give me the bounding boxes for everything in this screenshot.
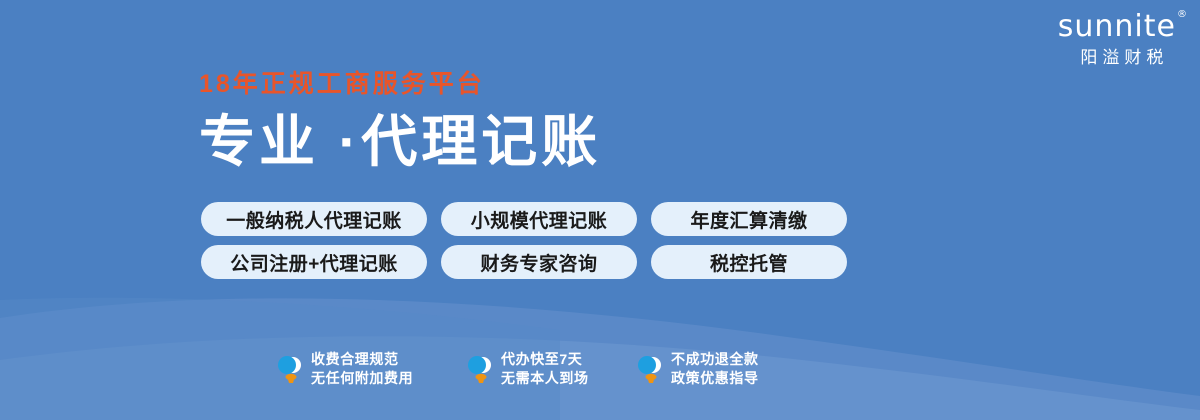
promo-banner: sunnite ® 阳溢财税 18年正规工商服务平台 专业 ·代理记账 一般纳税…	[0, 0, 1200, 420]
feature-item-refund: 不成功退全款 政策优惠指导	[636, 352, 816, 385]
brand-logo: sunnite ® 阳溢财税	[1058, 12, 1186, 66]
service-pill-row: 一般纳税人代理记账 小规模代理记账 年度汇算清缴	[201, 202, 847, 236]
service-pill-tax-control-hosting[interactable]: 税控托管	[651, 245, 847, 279]
page-title: 专业 ·代理记账	[199, 114, 601, 170]
service-pill-annual-settlement[interactable]: 年度汇算清缴	[651, 202, 847, 236]
dual-circle-icon	[636, 354, 662, 384]
feature-line-1: 代办快至7天	[501, 352, 589, 367]
logo-chinese-name: 阳溢财税	[1058, 49, 1186, 66]
dual-circle-icon	[276, 354, 302, 384]
feature-text: 收费合理规范 无任何附加费用	[311, 352, 413, 385]
feature-strip: 收费合理规范 无任何附加费用 代办快至7天 无需本人到场	[276, 352, 816, 385]
logo-wordmark: sunnite ®	[1058, 12, 1186, 42]
service-pill-general-taxpayer-bookkeeping[interactable]: 一般纳税人代理记账	[201, 202, 427, 236]
logo-wordmark-text: sunnite	[1058, 9, 1176, 44]
eyebrow-text: 18年正规工商服务平台	[199, 72, 601, 97]
service-pill-finance-expert-consulting[interactable]: 财务专家咨询	[441, 245, 637, 279]
service-pill-company-registration-bookkeeping[interactable]: 公司注册+代理记账	[201, 245, 427, 279]
dual-circle-icon	[466, 354, 492, 384]
feature-line-2: 无需本人到场	[501, 371, 589, 386]
feature-line-2: 政策优惠指导	[671, 371, 759, 386]
feature-item-pricing: 收费合理规范 无任何附加费用	[276, 352, 466, 385]
feature-line-1: 不成功退全款	[671, 352, 759, 367]
service-pill-grid: 一般纳税人代理记账 小规模代理记账 年度汇算清缴 公司注册+代理记账 财务专家咨…	[201, 202, 847, 279]
feature-line-1: 收费合理规范	[311, 352, 413, 367]
feature-item-speed: 代办快至7天 无需本人到场	[466, 352, 636, 385]
feature-line-2: 无任何附加费用	[311, 371, 413, 386]
service-pill-row: 公司注册+代理记账 财务专家咨询 税控托管	[201, 245, 847, 279]
feature-text: 不成功退全款 政策优惠指导	[671, 352, 759, 385]
registered-trademark-icon: ®	[1177, 10, 1188, 20]
service-pill-small-scale-bookkeeping[interactable]: 小规模代理记账	[441, 202, 637, 236]
feature-text: 代办快至7天 无需本人到场	[501, 352, 589, 385]
headline-group: 18年正规工商服务平台 专业 ·代理记账	[199, 72, 601, 170]
